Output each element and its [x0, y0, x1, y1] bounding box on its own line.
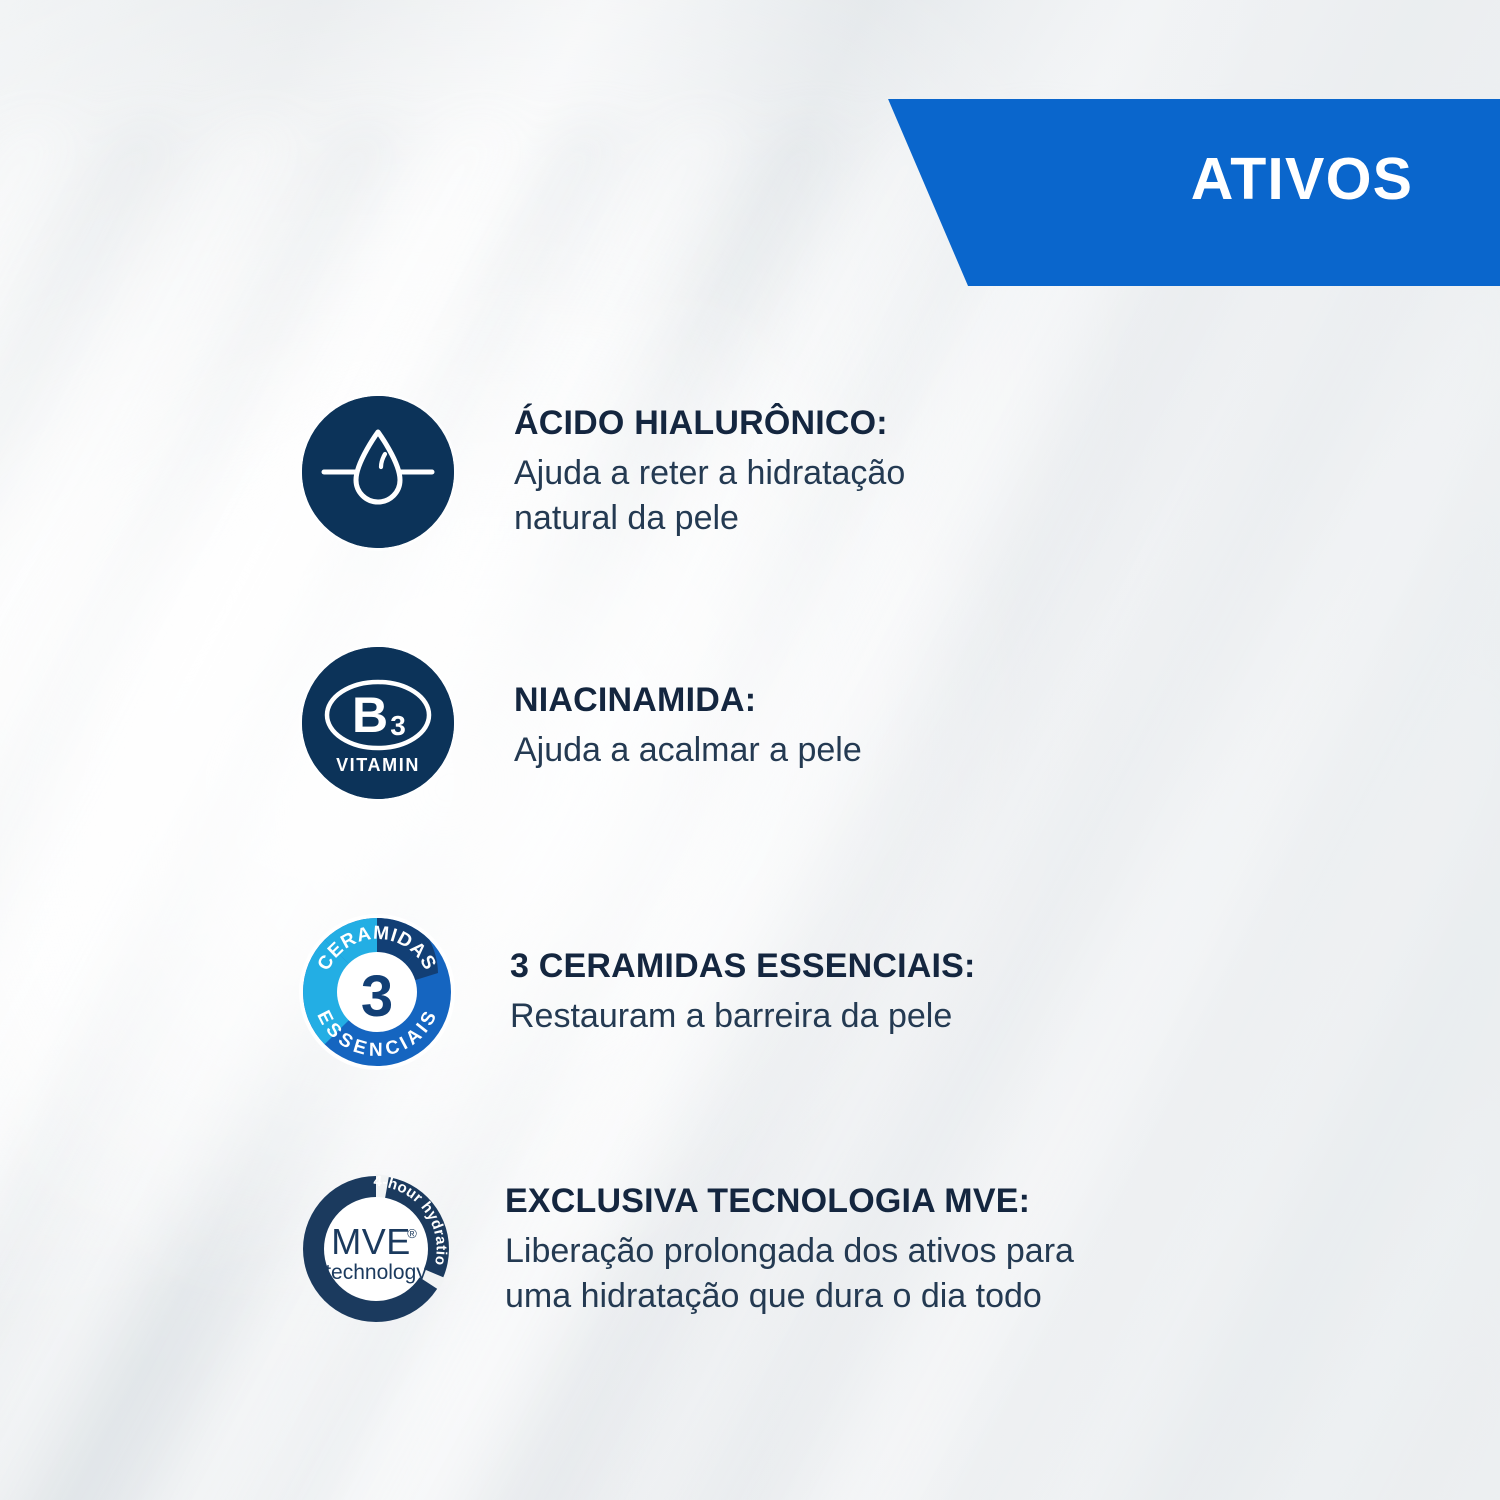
water-drop-icon: [302, 396, 454, 548]
benefit-description: Restauram a barreira da pele: [510, 994, 976, 1039]
benefit-description: Ajuda a reter a hidratação natural da pe…: [514, 451, 905, 541]
ativos-infographic: ATIVOS ÁCIDO HIALURÔNICO: Ajuda a reter …: [0, 0, 1500, 1500]
benefit-item-hyaluronic-acid: ÁCIDO HIALURÔNICO: Ajuda a reter a hidra…: [302, 396, 905, 548]
benefit-text-hyaluronic-acid: ÁCIDO HIALURÔNICO: Ajuda a reter a hidra…: [514, 396, 905, 541]
benefit-item-mve-technology: 24-hour hydration MVE ® technology EXCLU…: [293, 1166, 1074, 1319]
benefit-text-mve-technology: EXCLUSIVA TECNOLOGIA MVE: Liberação prol…: [505, 1166, 1074, 1319]
benefit-item-ceramides: 3 CERAMIDAS ESSENCIAIS 3 CERAMIDAS ESSEN…: [298, 913, 976, 1065]
benefits-list: ÁCIDO HIALURÔNICO: Ajuda a reter a hidra…: [0, 0, 1500, 1500]
benefit-title: ÁCIDO HIALURÔNICO:: [514, 402, 905, 445]
svg-text:technology: technology: [325, 1261, 427, 1284]
water-drop-icon-graphic: [302, 396, 454, 548]
svg-text:B: B: [352, 687, 388, 743]
benefit-title: NIACINAMIDA:: [514, 679, 862, 722]
svg-text:®: ®: [407, 1226, 417, 1241]
benefit-text-niacinamide: NIACINAMIDA: Ajuda a acalmar a pele: [514, 647, 862, 773]
benefit-description: Liberação prolongada dos ativos para uma…: [505, 1229, 1074, 1319]
benefit-title: EXCLUSIVA TECNOLOGIA MVE:: [505, 1180, 1074, 1223]
three-ceramides-badge-icon-graphic: 3 CERAMIDAS ESSENCIAIS: [298, 913, 456, 1071]
benefit-description: Ajuda a acalmar a pele: [514, 728, 862, 773]
benefit-text-ceramides: 3 CERAMIDAS ESSENCIAIS: Restauram a barr…: [510, 913, 976, 1039]
svg-text:3: 3: [361, 964, 393, 1029]
svg-text:VITAMIN: VITAMIN: [336, 755, 420, 775]
svg-text:MVE: MVE: [331, 1221, 411, 1262]
benefit-title: 3 CERAMIDAS ESSENCIAIS:: [510, 945, 976, 988]
benefit-item-niacinamide: B 3 VITAMIN NIACINAMIDA: Ajuda a acalmar…: [302, 647, 862, 799]
three-ceramides-badge-icon: 3 CERAMIDAS ESSENCIAIS: [298, 913, 450, 1065]
vitamin-b3-icon: B 3 VITAMIN: [302, 647, 454, 799]
svg-text:3: 3: [390, 710, 406, 741]
vitamin-b3-icon-graphic: B 3 VITAMIN: [302, 647, 454, 799]
mve-technology-icon: 24-hour hydration MVE ® technology: [293, 1166, 445, 1318]
mve-technology-icon-graphic: 24-hour hydration MVE ® technology: [293, 1166, 459, 1332]
